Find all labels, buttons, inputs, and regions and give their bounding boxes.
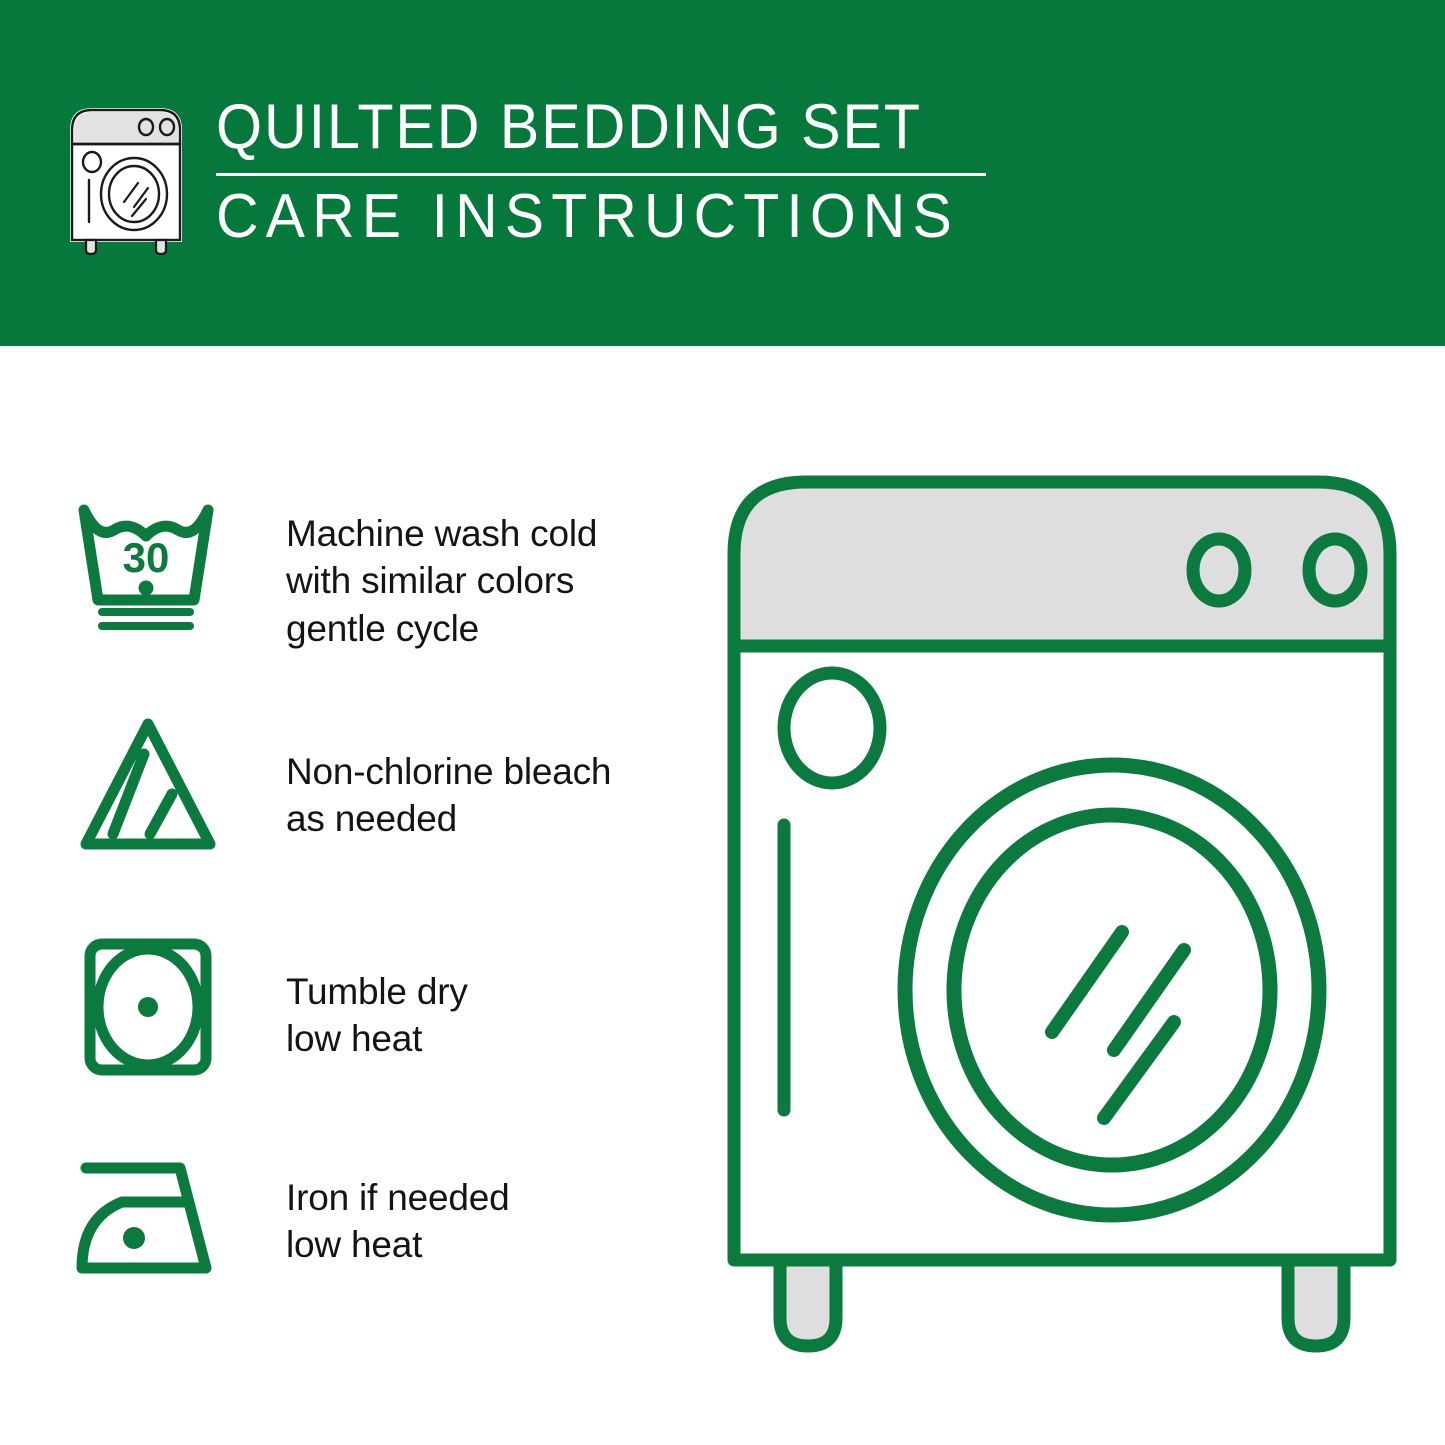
page-title: QUILTED BEDDING SET <box>216 96 951 165</box>
header-banner: QUILTED BEDDING SET CARE INSTRUCTIONS <box>0 0 1445 346</box>
care-row: Non-chlorine bleach as needed <box>68 710 708 860</box>
title-divider <box>216 173 986 176</box>
svg-text:30: 30 <box>123 534 170 581</box>
page-subtitle: CARE INSTRUCTIONS <box>216 186 959 248</box>
header-content: QUILTED BEDDING SET CARE INSTRUCTIONS <box>62 96 998 256</box>
washing-machine-icon <box>62 100 190 256</box>
washing-machine-illustration <box>722 470 1402 1370</box>
non-chlorine-bleach-triangle-icon <box>68 710 228 860</box>
care-text: Non-chlorine bleach as needed <box>228 710 708 843</box>
iron-low-heat-icon <box>68 1140 228 1290</box>
care-row: Tumble dry low heat <box>68 932 708 1082</box>
care-text: Tumble dry low heat <box>228 932 708 1063</box>
header-title-block: QUILTED BEDDING SET CARE INSTRUCTIONS <box>216 96 998 248</box>
care-row: 30 Machine wash cold with similar colors… <box>68 488 708 652</box>
care-text: Machine wash cold with similar colors ge… <box>228 488 708 652</box>
machine-wash-tub-30-icon: 30 <box>68 488 228 638</box>
care-row: Iron if needed low heat <box>68 1140 708 1290</box>
tumble-dry-low-icon <box>68 932 228 1082</box>
care-instructions-page: QUILTED BEDDING SET CARE INSTRUCTIONS 30 <box>0 0 1445 1445</box>
care-text: Iron if needed low heat <box>228 1140 708 1269</box>
